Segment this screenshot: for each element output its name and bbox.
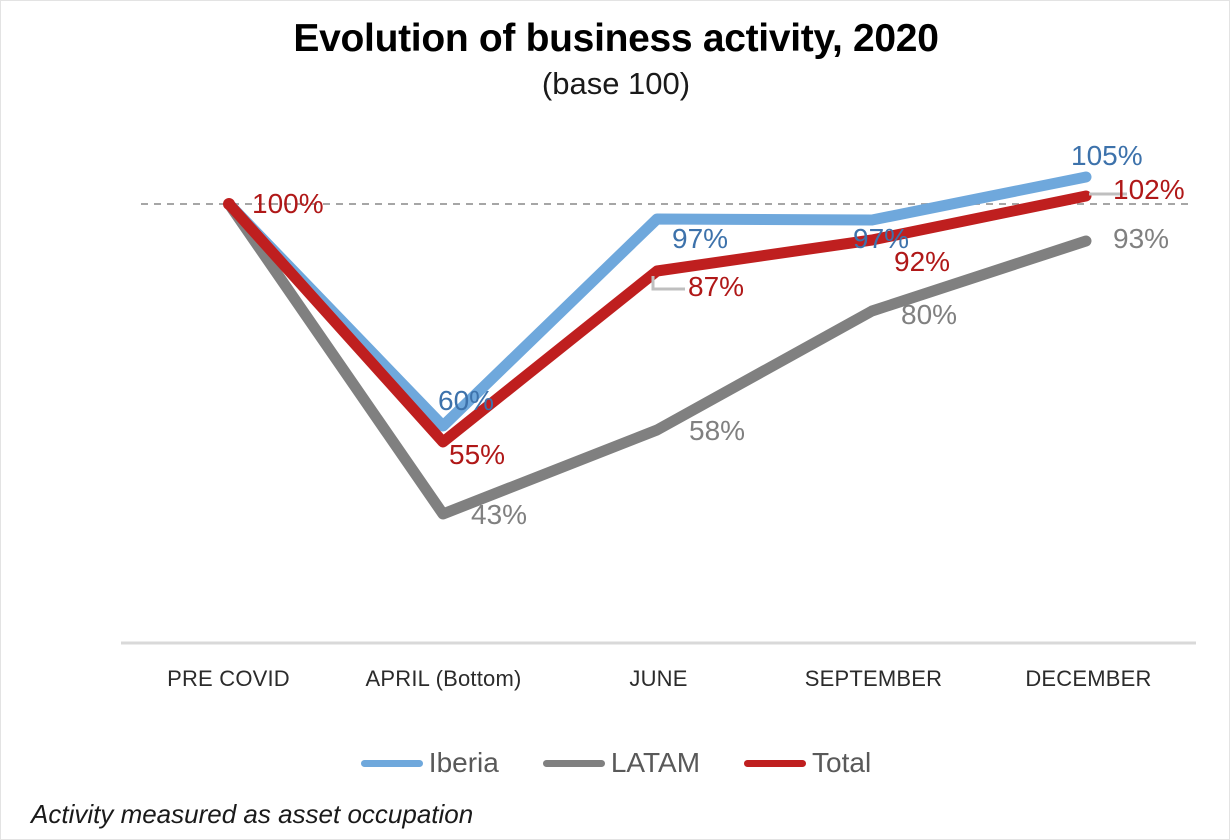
plot-svg bbox=[1, 1, 1230, 701]
chart-legend: Iberia LATAM Total bbox=[1, 749, 1230, 777]
leader-line-total-june bbox=[653, 276, 685, 289]
x-axis-tick-december: DECEMBER bbox=[981, 666, 1196, 692]
x-axis-tick-june: JUNE bbox=[551, 666, 766, 692]
data-label-iberia-june: 97% bbox=[672, 225, 728, 253]
data-point-marker-pre-covid bbox=[223, 198, 235, 210]
legend-swatch-iberia-icon bbox=[361, 760, 423, 767]
legend-label-latam: LATAM bbox=[611, 749, 700, 777]
data-label-total-june: 87% bbox=[688, 273, 744, 301]
chart-footnote: Activity measured as asset occupation bbox=[31, 799, 473, 830]
legend-item-total[interactable]: Total bbox=[744, 749, 871, 777]
legend-label-total: Total bbox=[812, 749, 871, 777]
data-label-latam-june: 58% bbox=[689, 417, 745, 445]
x-axis-tick-pre-covid: PRE COVID bbox=[121, 666, 336, 692]
series-line-latam bbox=[229, 204, 1086, 514]
x-axis-tick-september: SEPTEMBER bbox=[766, 666, 981, 692]
legend-item-iberia[interactable]: Iberia bbox=[361, 749, 499, 777]
x-axis-labels: PRE COVID APRIL (Bottom) JUNE SEPTEMBER … bbox=[121, 666, 1196, 706]
chart-container: Evolution of business activity, 2020 (ba… bbox=[0, 0, 1230, 840]
legend-label-iberia: Iberia bbox=[429, 749, 499, 777]
legend-item-latam[interactable]: LATAM bbox=[543, 749, 700, 777]
plot-area: 100% 60% 55% 43% 97% 87% 58% 97% 92% 80%… bbox=[1, 1, 1230, 701]
data-label-total-pre-covid: 100% bbox=[252, 190, 324, 218]
data-label-total-december: 102% bbox=[1113, 176, 1185, 204]
data-label-total-september: 92% bbox=[894, 248, 950, 276]
x-axis-tick-april: APRIL (Bottom) bbox=[336, 666, 551, 692]
data-label-iberia-april: 60% bbox=[438, 387, 494, 415]
data-label-total-april: 55% bbox=[449, 441, 505, 469]
legend-swatch-total-icon bbox=[744, 760, 806, 767]
data-label-latam-september: 80% bbox=[901, 301, 957, 329]
data-label-latam-december: 93% bbox=[1113, 225, 1169, 253]
data-label-iberia-december: 105% bbox=[1071, 142, 1143, 170]
series-line-total bbox=[229, 196, 1086, 442]
data-label-latam-april: 43% bbox=[471, 501, 527, 529]
legend-swatch-latam-icon bbox=[543, 760, 605, 767]
